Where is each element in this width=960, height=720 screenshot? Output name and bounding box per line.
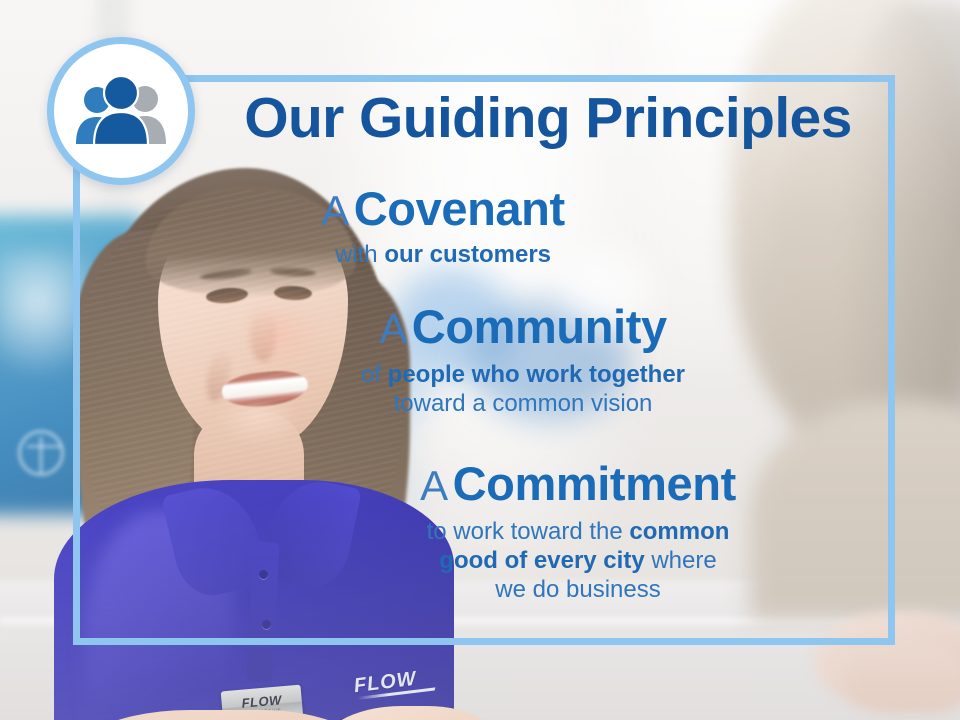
page-title: Our Guiding Principles	[223, 90, 873, 147]
principles-text-block: Our Guiding Principles A Covenant with o…	[73, 75, 895, 645]
customer-hand	[845, 646, 960, 712]
principle-article: A	[379, 305, 407, 352]
principle-word: Covenant	[354, 182, 565, 235]
principle-commitment: A Commitment to work toward the common g…	[263, 460, 893, 604]
subtext-plain: of	[361, 361, 388, 388]
subtext-plain: to work toward the	[427, 518, 630, 545]
principle-article: A	[321, 187, 349, 234]
subtext-bold: people who work together	[388, 361, 685, 388]
principle-heading: A Commitment	[263, 460, 893, 508]
subtext-bold: our customers	[384, 241, 551, 268]
principle-word: Commitment	[453, 457, 736, 510]
subtext-plain: where	[645, 547, 717, 574]
subtext-plain: with	[335, 241, 384, 268]
subtext-bold: common	[629, 518, 729, 545]
subtext-plain: toward a common vision	[394, 390, 653, 417]
principle-subtext: of people who work together toward a com…	[213, 361, 833, 419]
principle-word: Community	[412, 300, 667, 353]
principle-covenant: A Covenant with our customers	[143, 185, 743, 270]
principle-subtext: with our customers	[143, 241, 743, 270]
principle-subtext: to work toward the common good of every …	[263, 518, 893, 604]
principle-community: A Community of people who work together …	[213, 303, 833, 419]
guiding-principles-graphic: FLOW AUTOMOTIVE FLOW	[0, 0, 960, 720]
principle-heading: A Covenant	[143, 185, 743, 233]
principle-heading: A Community	[213, 303, 833, 351]
subtext-bold: good of every city	[439, 547, 644, 574]
principle-article: A	[420, 462, 448, 509]
subtext-plain: we do business	[495, 576, 660, 603]
